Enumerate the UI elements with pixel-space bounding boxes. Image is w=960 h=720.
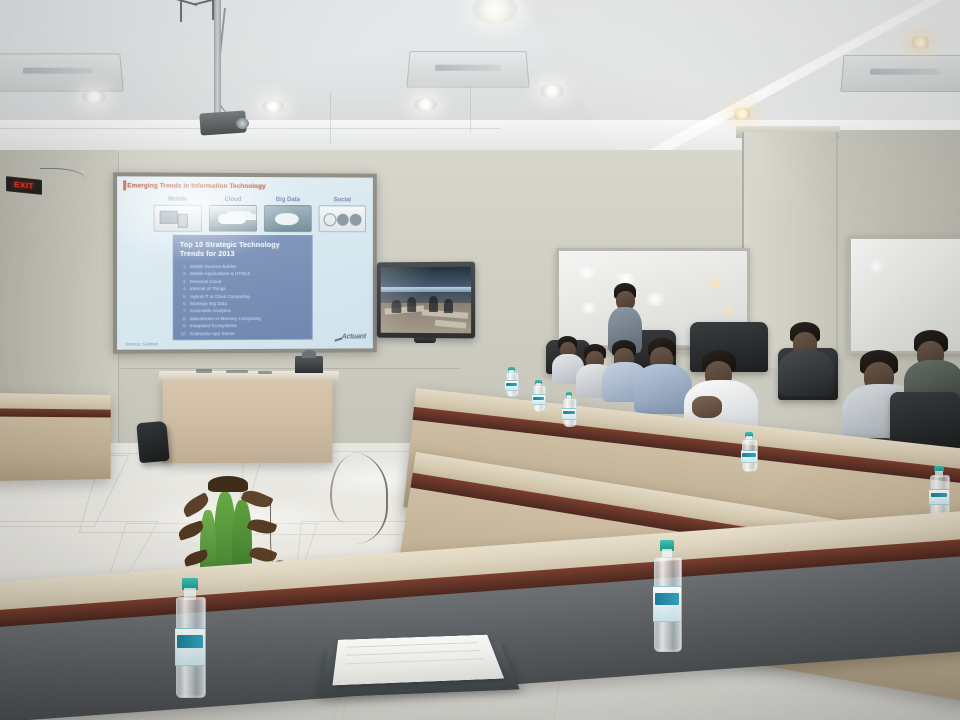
water-bottle[interactable]	[563, 392, 575, 425]
ceiling-tile-line	[330, 92, 331, 144]
laptop-bag-floor[interactable]	[136, 421, 169, 463]
downlight	[472, 0, 518, 24]
devices-icon	[154, 205, 202, 232]
projected-slide: Emerging Trends in Information Technolog…	[117, 176, 373, 349]
downlight	[414, 98, 437, 111]
downlight-warm	[732, 108, 752, 120]
slide-header: Emerging Trends in Information Technolog…	[127, 182, 365, 190]
water-bottle[interactable]	[742, 432, 756, 470]
whiteboard-reflection	[578, 302, 601, 314]
podium-item	[226, 370, 248, 373]
water-bottle[interactable]	[930, 466, 948, 514]
seated-person	[780, 322, 834, 392]
slide-trend-title: Top 10 Strategic Technology Trends for 2…	[180, 241, 306, 259]
wall-monitor-mount	[414, 338, 436, 343]
slide-category-bigdata: Big Data	[264, 197, 312, 232]
projector-lens-icon	[236, 118, 249, 129]
slide-source: Source: Gartner	[125, 341, 158, 346]
wall-monitor	[377, 262, 475, 339]
downlight	[82, 90, 106, 104]
water-bottle[interactable]	[654, 540, 680, 650]
ceiling-tile-line	[470, 86, 471, 132]
front-left-table[interactable]	[0, 393, 111, 481]
ac-vent-left	[0, 53, 124, 91]
list-item: 1.Mobile Devices Battles	[180, 263, 306, 271]
downlight	[540, 84, 564, 98]
list-item: 2.Mobile Applications & HTML5	[180, 270, 306, 278]
podium-item	[196, 369, 212, 373]
list-item: 10.Enterprise App Stores	[180, 330, 306, 338]
slide-trend-panel: Top 10 Strategic Technology Trends for 2…	[173, 235, 313, 340]
exit-sign-label: EXIT	[14, 180, 34, 190]
wall-base-seam	[120, 368, 460, 369]
whiteboard-reflection	[574, 267, 600, 280]
whiteboard-reflection	[721, 306, 736, 316]
handout-papers[interactable]	[332, 635, 504, 686]
slide-logo: Actuant	[342, 333, 366, 340]
slide-trend-list: 1.Mobile Devices Battles 2.Mobile Applic…	[180, 263, 306, 338]
slide-header-text: Emerging Trends in Information Technolog…	[127, 182, 266, 190]
speaker-podium[interactable]	[163, 377, 333, 463]
slide-header-bar	[123, 180, 126, 190]
whiteboard-reflection	[867, 259, 885, 272]
projector-mount	[214, 0, 221, 118]
social-icon	[319, 205, 366, 232]
slide-category-mobile: Mobile	[154, 197, 202, 232]
cloud-icon	[209, 205, 257, 232]
wall-monitor-screen	[381, 267, 471, 334]
downlight	[262, 100, 284, 113]
ceiling-tile-line	[0, 128, 500, 129]
tv-glare	[381, 267, 471, 334]
ac-vent-center	[406, 51, 529, 87]
podium-item	[258, 371, 272, 374]
list-item: 3.Personal Cloud	[180, 277, 306, 285]
water-bottle[interactable]	[176, 578, 204, 696]
data-icon	[264, 205, 312, 232]
slide-category-social: Social	[319, 197, 366, 232]
conference-room-photo: EXIT Emerging Trends in Information Tech…	[0, 0, 960, 720]
projection-screen: Emerging Trends in Information Technolog…	[113, 172, 377, 353]
slide-category-cloud: Cloud	[209, 197, 257, 232]
whiteboard-reflection	[706, 278, 725, 290]
water-bottle[interactable]	[533, 380, 544, 410]
water-bottle[interactable]	[506, 367, 517, 395]
podium-av-device[interactable]	[295, 356, 323, 373]
slide-category-row: Mobile Cloud Big Data Social	[154, 197, 363, 234]
downlight-warm	[910, 36, 931, 49]
ac-vent-right	[840, 55, 960, 92]
